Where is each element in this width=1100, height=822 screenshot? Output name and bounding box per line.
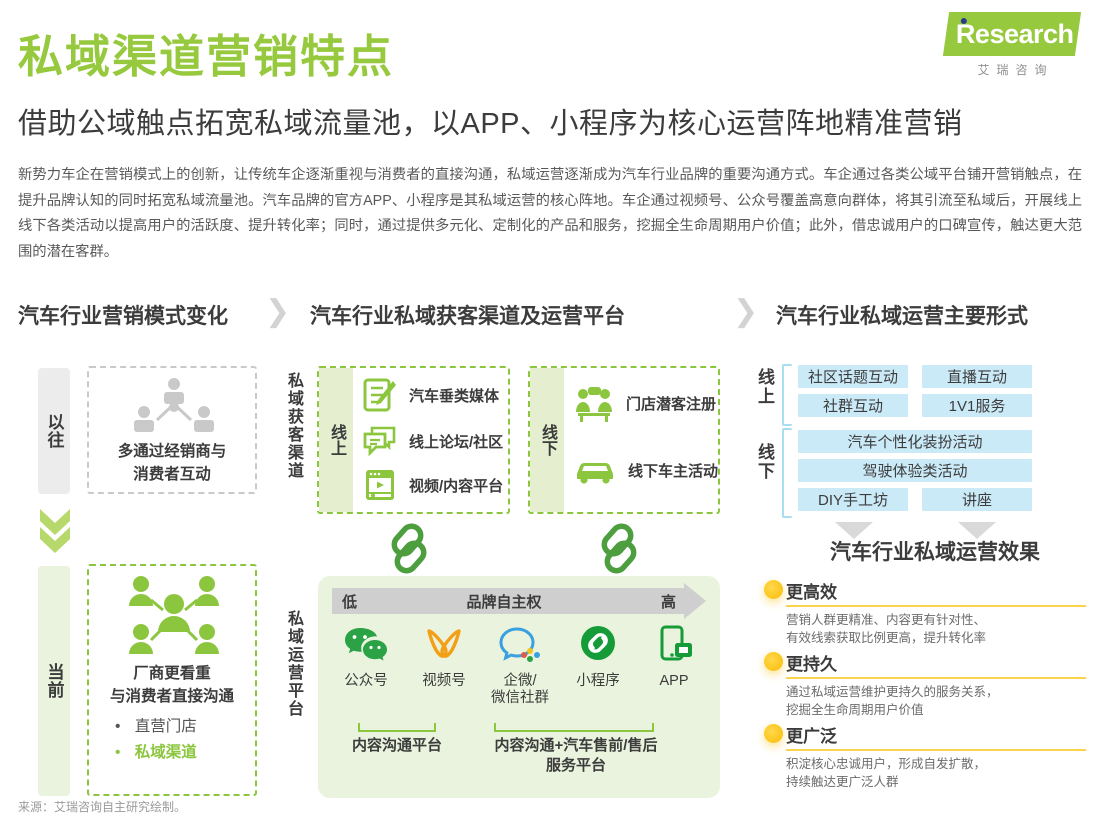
- chevron-right-icon-2: ❯: [733, 294, 758, 329]
- effect-item-0: 更高效 营销人群更精准、内容更有针对性、 有效线索获取比例更高，提升转化率: [786, 578, 1086, 647]
- past-card: 多通过经销商与 消费者互动: [87, 366, 257, 494]
- chain-link-icon-right: [588, 522, 646, 574]
- past-card-text: 多通过经销商与 消费者互动: [89, 440, 255, 486]
- acquire-channel-label: 私域获客渠道: [281, 372, 305, 480]
- platform-1: 视频号: [408, 624, 480, 690]
- bar-low-label: 低: [342, 591, 357, 612]
- bar-arrow-head: [684, 583, 706, 619]
- online-tag-2[interactable]: 社群互动: [798, 394, 908, 417]
- platform-2: 企微/ 微信社群: [484, 624, 556, 707]
- offline-item-label-1: 线下车主活动: [628, 460, 718, 481]
- col3-online-bracket: [782, 364, 792, 426]
- platform-name-2-line2: 微信社群: [484, 690, 556, 707]
- current-card-line1: 厂商更看重: [89, 662, 255, 685]
- effect-bullet-dot-2: [764, 724, 783, 743]
- iresearch-logo: Research 艾瑞咨询: [946, 12, 1078, 78]
- chat-bubbles-icon: [363, 424, 397, 458]
- body-paragraph: 新势力车企在营销模式上的创新，让传统车企逐渐重视与消费者的直接沟通，私域运营逐渐…: [18, 163, 1082, 265]
- current-side-tag-label: 当前: [42, 663, 67, 699]
- bracket-label-1-line2: 服务平台: [458, 756, 694, 776]
- platform-name-4: APP: [638, 673, 710, 690]
- col3-offline-label: 线下: [752, 443, 777, 481]
- enterprise-wechat-icon: [497, 624, 543, 664]
- logo-word: Research: [950, 21, 1074, 48]
- offline-stripe-label: 线下: [535, 424, 559, 456]
- offline-channel-box: 线下 门店潜客注册 线下车主活动: [528, 366, 720, 514]
- bracket-0: [358, 723, 436, 732]
- current-card-line2: 与消费者直接沟通: [89, 685, 255, 708]
- logo-mark: Research: [943, 12, 1081, 56]
- double-chevron-down-icon: [36, 505, 74, 553]
- bar-high-label: 高: [661, 591, 676, 612]
- car-icon: [574, 456, 616, 484]
- channel-item-0: 汽车垂类媒体: [363, 378, 499, 412]
- private-platform-box: 低 品牌自主权 高 公众号 视频号 企微/ 微信社群: [318, 576, 720, 798]
- platform-name-1: 视频号: [408, 673, 480, 690]
- org-chart-people-icon: [89, 376, 259, 436]
- platform-3: 小程序: [562, 624, 634, 690]
- platform-name-2: 企微/ 微信社群: [484, 673, 556, 707]
- offline-tag-0[interactable]: 汽车个性化装扮活动: [798, 430, 1032, 453]
- chevron-right-icon-1: ❯: [265, 294, 290, 329]
- bracket-label-0: 内容沟通平台: [342, 736, 452, 756]
- effect-item-1: 更持久 通过私域运营维护更持久的服务关系， 挖掘全生命周期用户价值: [786, 650, 1086, 719]
- channel-item-label-1: 线上论坛/社区: [409, 431, 503, 452]
- bracket-label-1: 内容沟通+汽车售前/售后 服务平台: [458, 736, 694, 776]
- bracket-label-1-line1: 内容沟通+汽车售前/售后: [458, 736, 694, 756]
- phone-app-icon: [651, 624, 697, 664]
- effect-title: 汽车行业私域运营效果: [770, 536, 1100, 566]
- chain-link-icon-left: [378, 522, 436, 574]
- platform-0: 公众号: [330, 624, 402, 690]
- effect-bullet-dot-1: [764, 652, 783, 671]
- offline-tag-2[interactable]: DIY手工坊: [798, 488, 908, 511]
- effect-bullet-dot-0: [764, 580, 783, 599]
- current-card: 厂商更看重 与消费者直接沟通 • 直营门店 • 私域渠道: [87, 564, 257, 796]
- platform-4: APP: [638, 624, 710, 690]
- online-channel-box: 线上 汽车垂类媒体 线上论坛/社区 视频/内容平台: [317, 366, 510, 514]
- article-pen-icon: [363, 378, 397, 412]
- brand-autonomy-bar: 低 品牌自主权 高: [332, 588, 684, 614]
- page-title: 私域渠道营销特点: [18, 20, 394, 85]
- effect-body-1-line2: 挖掘全生命周期用户价值: [786, 701, 1086, 719]
- video-player-icon: [363, 468, 397, 502]
- col3-online-label: 线上: [752, 368, 777, 406]
- effect-body-0: 营销人群更精准、内容更有针对性、 有效线索获取比例更高，提升转化率: [786, 611, 1086, 647]
- online-tag-0[interactable]: 社区话题互动: [798, 365, 908, 388]
- channel-item-label-2: 视频/内容平台: [409, 475, 503, 496]
- current-card-text: 厂商更看重 与消费者直接沟通: [89, 662, 255, 708]
- past-card-line1: 多通过经销商与: [89, 440, 255, 463]
- effect-body-0-line2: 有效线索获取比例更高，提升转化率: [786, 629, 1086, 647]
- platform-name-3: 小程序: [562, 673, 634, 690]
- network-people-icon: [89, 574, 259, 660]
- wechat-channels-icon: [421, 624, 467, 664]
- page-subtitle: 借助公域触点拓宽私域流量池，以APP、小程序为核心运营阵地精准营销: [18, 100, 963, 142]
- online-tag-1[interactable]: 直播互动: [922, 365, 1032, 388]
- bullet-dot-0: •: [115, 718, 120, 735]
- bullet-label-0: 直营门店: [135, 718, 197, 735]
- effect-head-1: 更持久: [786, 650, 1086, 679]
- bullet-dot-1: •: [115, 744, 120, 761]
- effect-head-2: 更广泛: [786, 722, 1086, 751]
- effect-item-2: 更广泛 积淀核心忠诚用户，形成自发扩散， 持续触达更广泛人群: [786, 722, 1086, 791]
- section-title-1: 汽车行业营销模式变化: [18, 300, 228, 330]
- bullet-item-0: • 直营门店: [115, 714, 255, 740]
- offline-item-label-0: 门店潜客注册: [626, 393, 716, 414]
- effect-body-0-line1: 营销人群更精准、内容更有针对性、: [786, 611, 1086, 629]
- effect-body-2: 积淀核心忠诚用户，形成自发扩散， 持续触达更广泛人群: [786, 755, 1086, 791]
- effect-body-2-line2: 持续触达更广泛人群: [786, 773, 1086, 791]
- section-title-3: 汽车行业私域运营主要形式: [776, 300, 1028, 330]
- channel-item-1: 线上论坛/社区: [363, 424, 503, 458]
- effect-body-2-line1: 积淀核心忠诚用户，形成自发扩散，: [786, 755, 1086, 773]
- effect-body-1-line1: 通过私域运营维护更持久的服务关系，: [786, 683, 1086, 701]
- logo-cn-text: 艾瑞咨询: [946, 61, 1078, 78]
- section-title-2: 汽车行业私域获客渠道及运营平台: [310, 300, 625, 330]
- offline-item-0: 门店潜客注册: [574, 384, 716, 422]
- past-card-line2: 消费者互动: [89, 463, 255, 486]
- bar-center-label: 品牌自主权: [357, 591, 661, 612]
- past-side-tag: 以往: [38, 368, 70, 494]
- online-stripe-label: 线上: [324, 424, 348, 456]
- bracket-1: [494, 723, 654, 732]
- operate-platform-label: 私域运营平台: [281, 610, 305, 718]
- channel-item-2: 视频/内容平台: [363, 468, 503, 502]
- online-stripe: 线上: [319, 368, 353, 512]
- section-header-row: 汽车行业营销模式变化 ❯ 汽车行业私域获客渠道及运营平台 ❯ 汽车行业私域运营主…: [0, 296, 1100, 336]
- bullet-item-1: • 私域渠道: [115, 740, 255, 766]
- col3-offline-bracket: [782, 428, 792, 518]
- bullet-label-1: 私域渠道: [135, 744, 197, 761]
- effect-body-1: 通过私域运营维护更持久的服务关系， 挖掘全生命周期用户价值: [786, 683, 1086, 719]
- wechat-icon: [343, 624, 389, 664]
- two-people-table-icon: [574, 384, 614, 422]
- effect-head-0: 更高效: [786, 578, 1086, 607]
- channel-item-label-0: 汽车垂类媒体: [409, 385, 499, 406]
- offline-tag-3[interactable]: 讲座: [922, 488, 1032, 511]
- platform-name-2-line1: 企微/: [484, 673, 556, 690]
- mini-program-link-icon: [575, 624, 621, 664]
- platform-name-0: 公众号: [330, 673, 402, 690]
- offline-item-1: 线下车主活动: [574, 456, 718, 484]
- current-card-bullets: • 直营门店 • 私域渠道: [89, 714, 255, 766]
- past-side-tag-label: 以往: [42, 413, 67, 449]
- offline-tag-1[interactable]: 驾驶体验类活动: [798, 459, 1032, 482]
- online-tag-3[interactable]: 1V1服务: [922, 394, 1032, 417]
- offline-stripe: 线下: [530, 368, 564, 512]
- source-note: 来源：艾瑞咨询自主研究绘制。: [18, 798, 186, 815]
- current-side-tag: 当前: [38, 566, 70, 796]
